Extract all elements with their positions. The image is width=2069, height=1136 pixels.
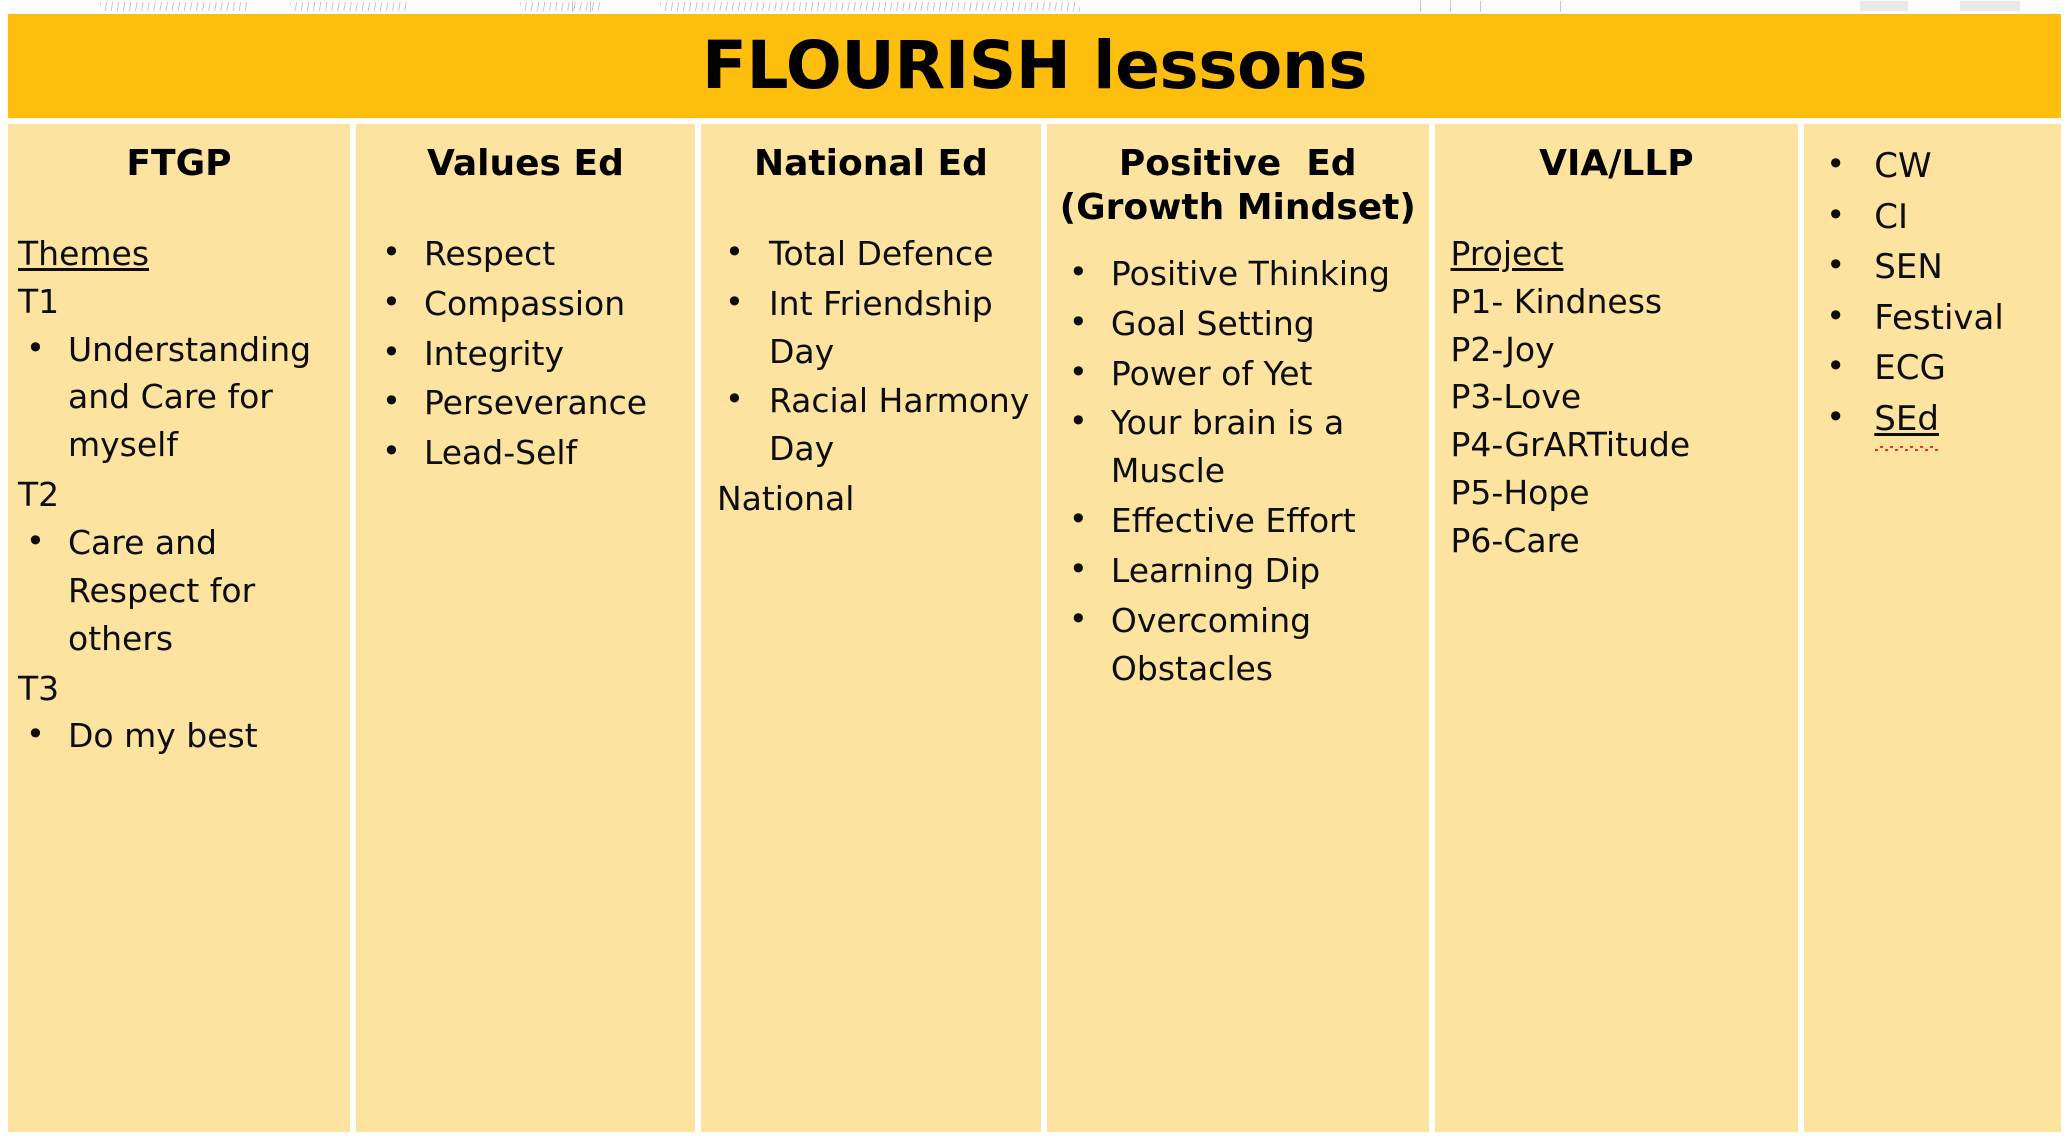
misspelled-word: SEd bbox=[1874, 395, 1939, 444]
list-item: Festival bbox=[1812, 294, 2053, 343]
theme-label-t1: T1 bbox=[18, 278, 342, 326]
column-body-via-llp: Project P1- Kindness P2-Joy P3-Love P4-G… bbox=[1435, 230, 1799, 565]
list-item: Compassion bbox=[374, 280, 687, 328]
list-theme-t3: Do my best bbox=[18, 712, 342, 760]
theme-label-t2: T2 bbox=[18, 471, 342, 519]
list-item: Care and Respect for others bbox=[18, 519, 342, 663]
list-item: CW bbox=[1812, 142, 2053, 191]
column-via-llp[interactable]: VIA/LLP Project P1- Kindness P2-Joy P3-L… bbox=[1435, 124, 1799, 1134]
column-body-values-ed: Respect Compassion Integrity Perseveranc… bbox=[356, 230, 695, 477]
list-item: Understanding and Care for myself bbox=[18, 326, 342, 470]
column-national-ed[interactable]: National Ed Total Defence Int Friendship… bbox=[701, 124, 1041, 1134]
list-theme-t2: Care and Respect for others bbox=[18, 519, 342, 663]
list-item: Power of Yet bbox=[1061, 350, 1421, 398]
column-header-national-ed: National Ed bbox=[701, 124, 1041, 186]
project-item-p5: P5-Hope bbox=[1451, 469, 1791, 517]
project-item-p3: P3-Love bbox=[1451, 373, 1791, 421]
column-header-via-llp: VIA/LLP bbox=[1435, 124, 1799, 186]
page-title: FLOURISH lessons bbox=[702, 33, 1367, 99]
list-item: ECG bbox=[1812, 344, 2053, 393]
theme-label-t3: T3 bbox=[18, 665, 342, 713]
list-item: Integrity bbox=[374, 330, 687, 378]
list-item: SEd bbox=[1812, 395, 2053, 444]
list-item: Goal Setting bbox=[1061, 300, 1421, 348]
list-growth-mindset: Positive Thinking Goal Setting Power of … bbox=[1061, 250, 1421, 693]
list-item: Respect bbox=[374, 230, 687, 278]
slide-canvas: FLOURISH lessons FTGP Themes T1 Understa… bbox=[0, 14, 2069, 1136]
column-header-values-ed: Values Ed bbox=[356, 124, 695, 186]
project-item-p1: P1- Kindness bbox=[1451, 278, 1791, 326]
column-values-ed[interactable]: Values Ed Respect Compassion Integrity P… bbox=[356, 124, 695, 1134]
project-item-p6: P6-Care bbox=[1451, 517, 1791, 565]
list-item: Do my best bbox=[18, 712, 342, 760]
list-item: Learning Dip bbox=[1061, 547, 1421, 595]
column-body-programmes: CW CI SEN Festival ECG SEd bbox=[1804, 124, 2061, 444]
list-national-events: Total Defence Int Friendship Day Racial … bbox=[717, 230, 1033, 473]
cropped-app-chrome-strip bbox=[0, 0, 2069, 14]
column-positive-ed[interactable]: Positive Ed (Growth Mindset) Positive Th… bbox=[1047, 124, 1429, 1134]
list-item: CI bbox=[1812, 193, 2053, 242]
lesson-columns-table: FTGP Themes T1 Understanding and Care fo… bbox=[8, 124, 2061, 1134]
list-theme-t1: Understanding and Care for myself bbox=[18, 326, 342, 470]
column-ftgp[interactable]: FTGP Themes T1 Understanding and Care fo… bbox=[8, 124, 350, 1134]
slide-bottom-edge bbox=[0, 1132, 2069, 1136]
trailing-text-national: National bbox=[717, 475, 1033, 523]
project-item-p2: P2-Joy bbox=[1451, 326, 1791, 374]
slide-title-bar: FLOURISH lessons bbox=[8, 14, 2061, 118]
list-item: Lead-Self bbox=[374, 429, 687, 477]
column-body-positive-ed: Positive Thinking Goal Setting Power of … bbox=[1047, 250, 1429, 693]
column-body-national-ed: Total Defence Int Friendship Day Racial … bbox=[701, 230, 1041, 523]
list-item: Your brain is a Muscle bbox=[1061, 399, 1421, 495]
subheading-project: Project bbox=[1451, 230, 1791, 278]
subheading-themes: Themes bbox=[18, 230, 342, 278]
list-item: Positive Thinking bbox=[1061, 250, 1421, 298]
list-item: Perseverance bbox=[374, 379, 687, 427]
list-values: Respect Compassion Integrity Perseveranc… bbox=[374, 230, 687, 477]
column-programmes[interactable]: CW CI SEN Festival ECG SEd bbox=[1804, 124, 2061, 1134]
list-item: SEN bbox=[1812, 243, 2053, 292]
list-item: Racial Harmony Day bbox=[717, 377, 1033, 473]
list-item: Int Friendship Day bbox=[717, 280, 1033, 376]
column-header-positive-ed: Positive Ed (Growth Mindset) bbox=[1047, 124, 1429, 230]
column-body-ftgp: Themes T1 Understanding and Care for mys… bbox=[8, 230, 350, 760]
list-item: Total Defence bbox=[717, 230, 1033, 278]
project-item-p4: P4-GrARTitude bbox=[1451, 421, 1791, 469]
list-programmes: CW CI SEN Festival ECG SEd bbox=[1812, 142, 2053, 444]
list-item: Overcoming Obstacles bbox=[1061, 597, 1421, 693]
column-header-ftgp: FTGP bbox=[8, 124, 350, 186]
list-item: Effective Effort bbox=[1061, 497, 1421, 545]
